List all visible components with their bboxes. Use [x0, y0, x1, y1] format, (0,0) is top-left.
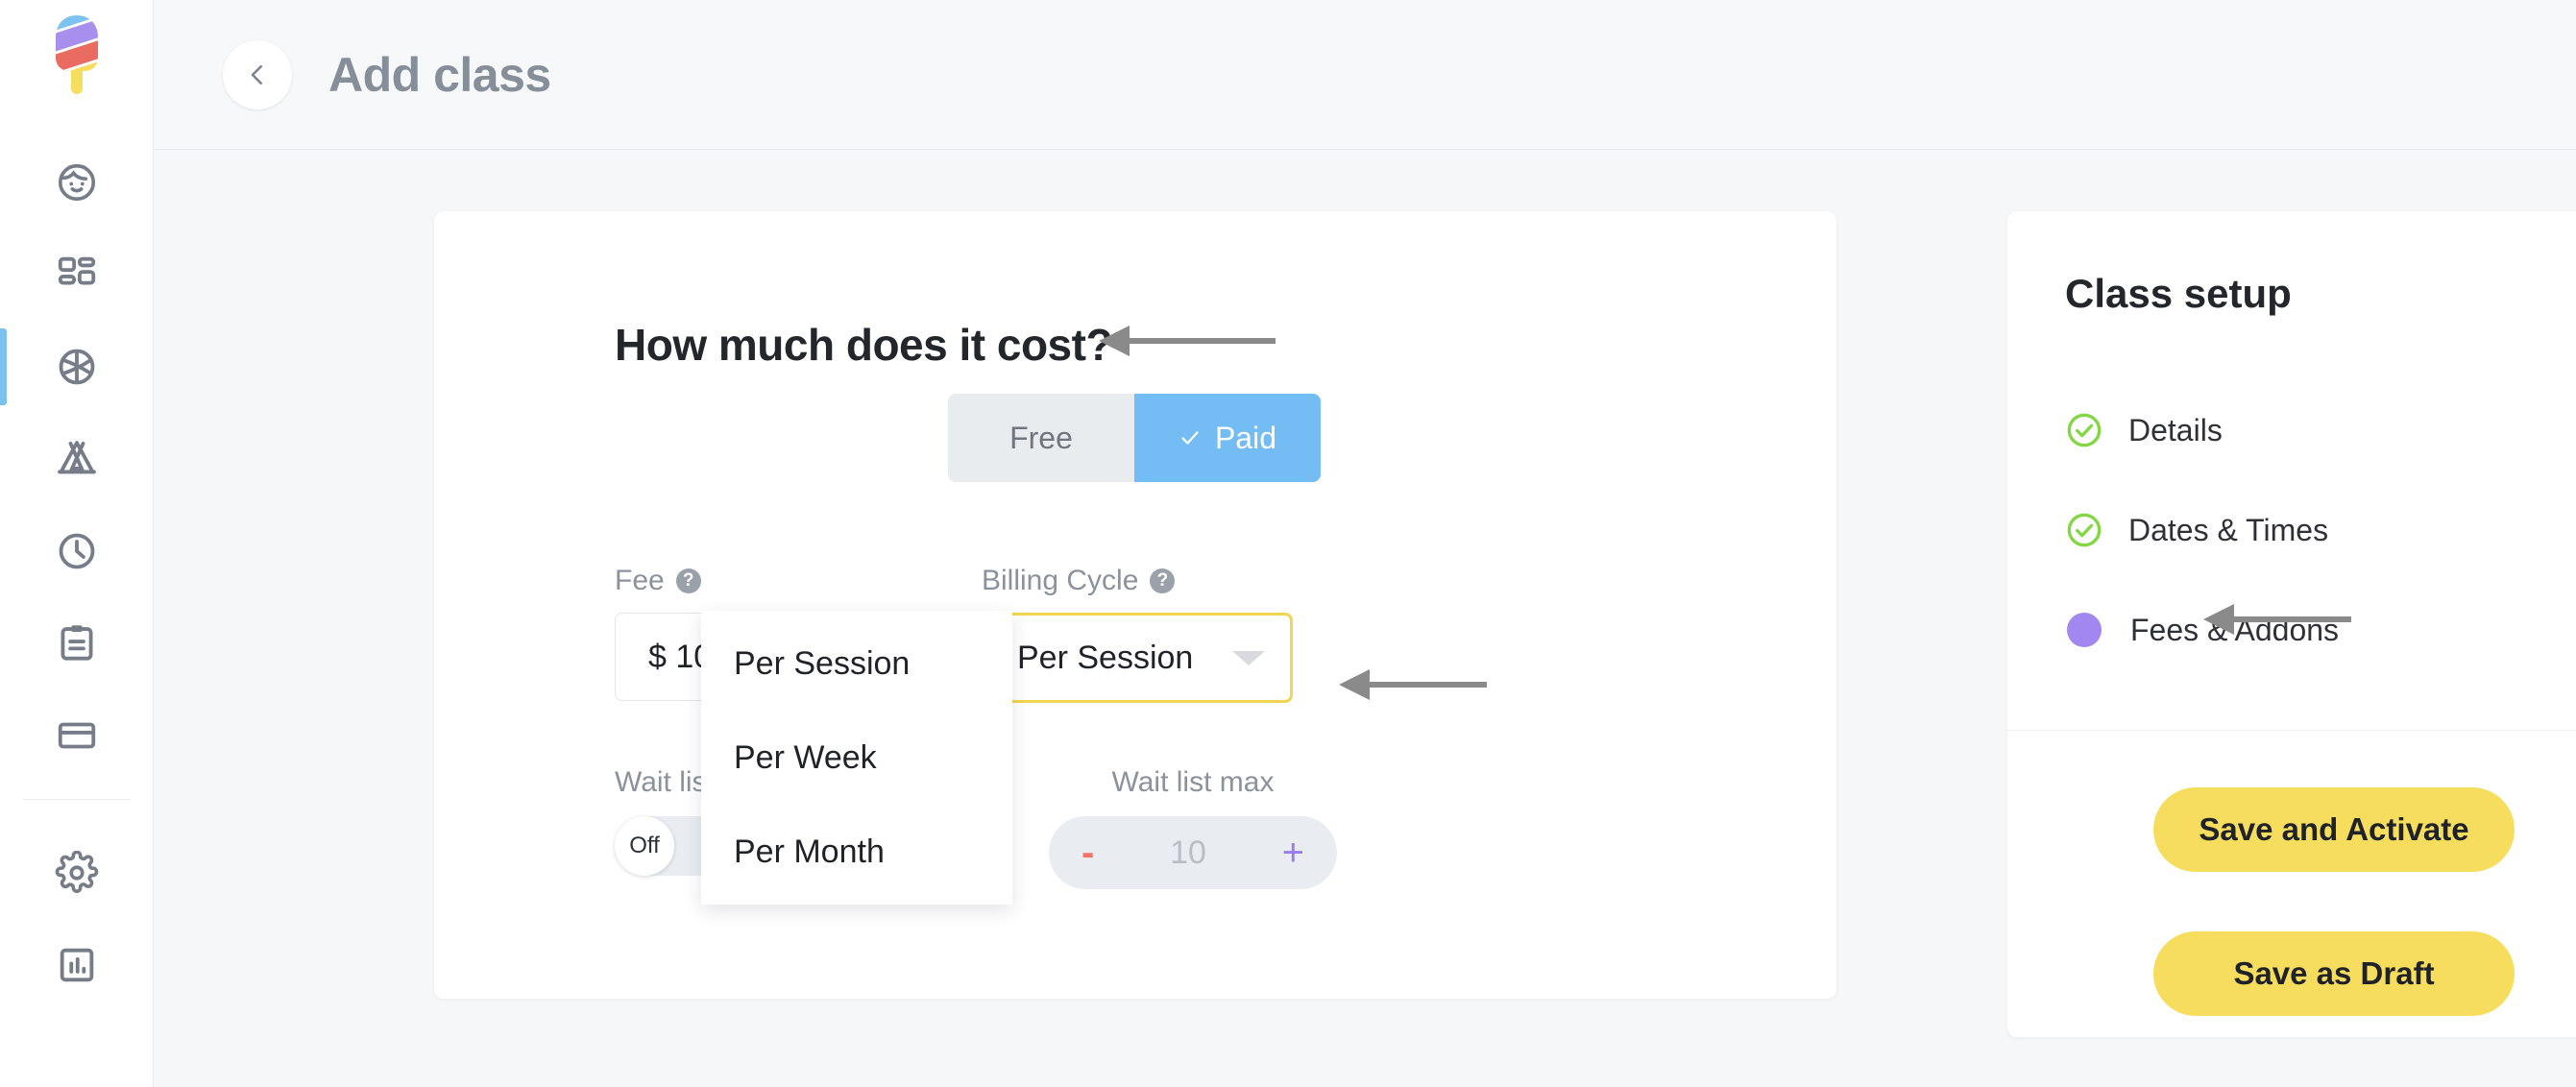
fee-label-row: Fee ?	[615, 565, 924, 597]
paid-option-button[interactable]: Paid	[1134, 394, 1321, 482]
paid-option-label: Paid	[1215, 421, 1276, 456]
free-option-button[interactable]: Free	[948, 394, 1134, 482]
sidebar-item-dashboard[interactable]	[0, 229, 154, 321]
panel-actions: Save and Activate Save as Draft	[2007, 787, 2576, 1016]
billing-cycle-value: Per Session	[1017, 640, 1193, 677]
child-face-icon	[55, 160, 99, 205]
page-title: Add class	[328, 47, 551, 103]
dropdown-option-per-session[interactable]: Per Session	[701, 616, 1012, 711]
setup-steps-list: Details Dates & Times Fees & Addons	[2065, 380, 2576, 680]
left-sidebar	[0, 0, 154, 1087]
sidebar-item-classes[interactable]	[0, 321, 154, 413]
setup-step-label: Dates & Times	[2128, 513, 2328, 548]
wait-list-max-stepper: - 10 +	[1049, 816, 1337, 889]
billing-cycle-help-icon[interactable]: ?	[1150, 568, 1175, 593]
wait-list-toggle-state: Off	[615, 816, 674, 876]
cost-card: How much does it cost? Free Paid Fee ?	[434, 211, 1836, 999]
page-body: How much does it cost? Free Paid Fee ?	[154, 150, 2576, 1087]
check-circle-icon	[2065, 511, 2103, 549]
class-setup-panel: Class setup Details	[2007, 211, 2576, 1037]
sidebar-item-analytics[interactable]	[0, 919, 154, 1011]
price-type-segmented-control: Free Paid	[948, 394, 1321, 482]
sidebar-item-camps[interactable]	[0, 413, 154, 505]
basketball-icon	[55, 345, 99, 389]
check-icon	[1179, 425, 1202, 450]
panel-title: Class setup	[2065, 271, 2292, 317]
cost-heading: How much does it cost?	[615, 319, 1112, 371]
sidebar-nav	[0, 136, 154, 1011]
clipboard-icon	[55, 621, 99, 665]
save-and-activate-button[interactable]: Save and Activate	[2153, 787, 2515, 872]
gear-icon	[55, 851, 99, 895]
chevron-left-icon	[243, 60, 272, 89]
billing-cycle-group: Billing Cycle ? Per Session	[982, 565, 1293, 703]
bar-chart-icon	[55, 943, 99, 987]
setup-step-label: Details	[2128, 413, 2223, 448]
wait-list-max-value[interactable]: 10	[1170, 834, 1206, 872]
setup-step-fees-addons[interactable]: Fees & Addons	[2065, 580, 2576, 680]
decrement-button[interactable]: -	[1081, 833, 1094, 872]
check-circle-icon	[2065, 411, 2103, 449]
billing-cycle-label: Billing Cycle	[982, 565, 1138, 597]
billing-cycle-label-row: Billing Cycle ?	[982, 565, 1293, 597]
panel-divider	[2007, 730, 2576, 731]
dropdown-option-per-month[interactable]: Per Month	[701, 805, 1012, 899]
popsicle-logo-icon	[46, 13, 108, 96]
sidebar-divider	[23, 799, 131, 800]
sidebar-item-settings[interactable]	[0, 827, 154, 919]
dropdown-option-per-week[interactable]: Per Week	[701, 711, 1012, 805]
sidebar-item-billing[interactable]	[0, 689, 154, 782]
sidebar-item-children[interactable]	[0, 136, 154, 229]
setup-step-details[interactable]: Details	[2065, 380, 2576, 480]
main-region: Add class How much does it cost? Free Pa…	[154, 0, 2576, 1087]
clock-icon	[55, 529, 99, 573]
wait-list-max-group: Wait list max - 10 +	[1049, 766, 1337, 889]
fee-label: Fee	[615, 565, 665, 597]
app-logo[interactable]	[0, 13, 154, 96]
save-as-draft-button[interactable]: Save as Draft	[2153, 931, 2515, 1016]
billing-cycle-select[interactable]: Per Session	[982, 613, 1293, 703]
credit-card-icon	[55, 713, 99, 758]
sidebar-item-schedule[interactable]	[0, 505, 154, 597]
tent-icon	[55, 437, 99, 481]
wait-list-max-label: Wait list max	[1049, 766, 1337, 799]
filled-dot-icon	[2067, 613, 2102, 647]
increment-button[interactable]: +	[1282, 833, 1304, 872]
fee-help-icon[interactable]: ?	[676, 568, 701, 593]
sidebar-item-reports[interactable]	[0, 597, 154, 689]
chevron-down-icon	[1232, 651, 1265, 665]
setup-step-dates-times[interactable]: Dates & Times	[2065, 480, 2576, 580]
dashboard-grid-icon	[55, 253, 99, 297]
billing-cycle-dropdown: Per Session Per Week Per Month	[701, 611, 1012, 905]
setup-step-label: Fees & Addons	[2130, 613, 2339, 648]
page-header: Add class	[154, 0, 2576, 150]
back-button[interactable]	[223, 40, 292, 109]
app-root: Add class How much does it cost? Free Pa…	[0, 0, 2576, 1087]
